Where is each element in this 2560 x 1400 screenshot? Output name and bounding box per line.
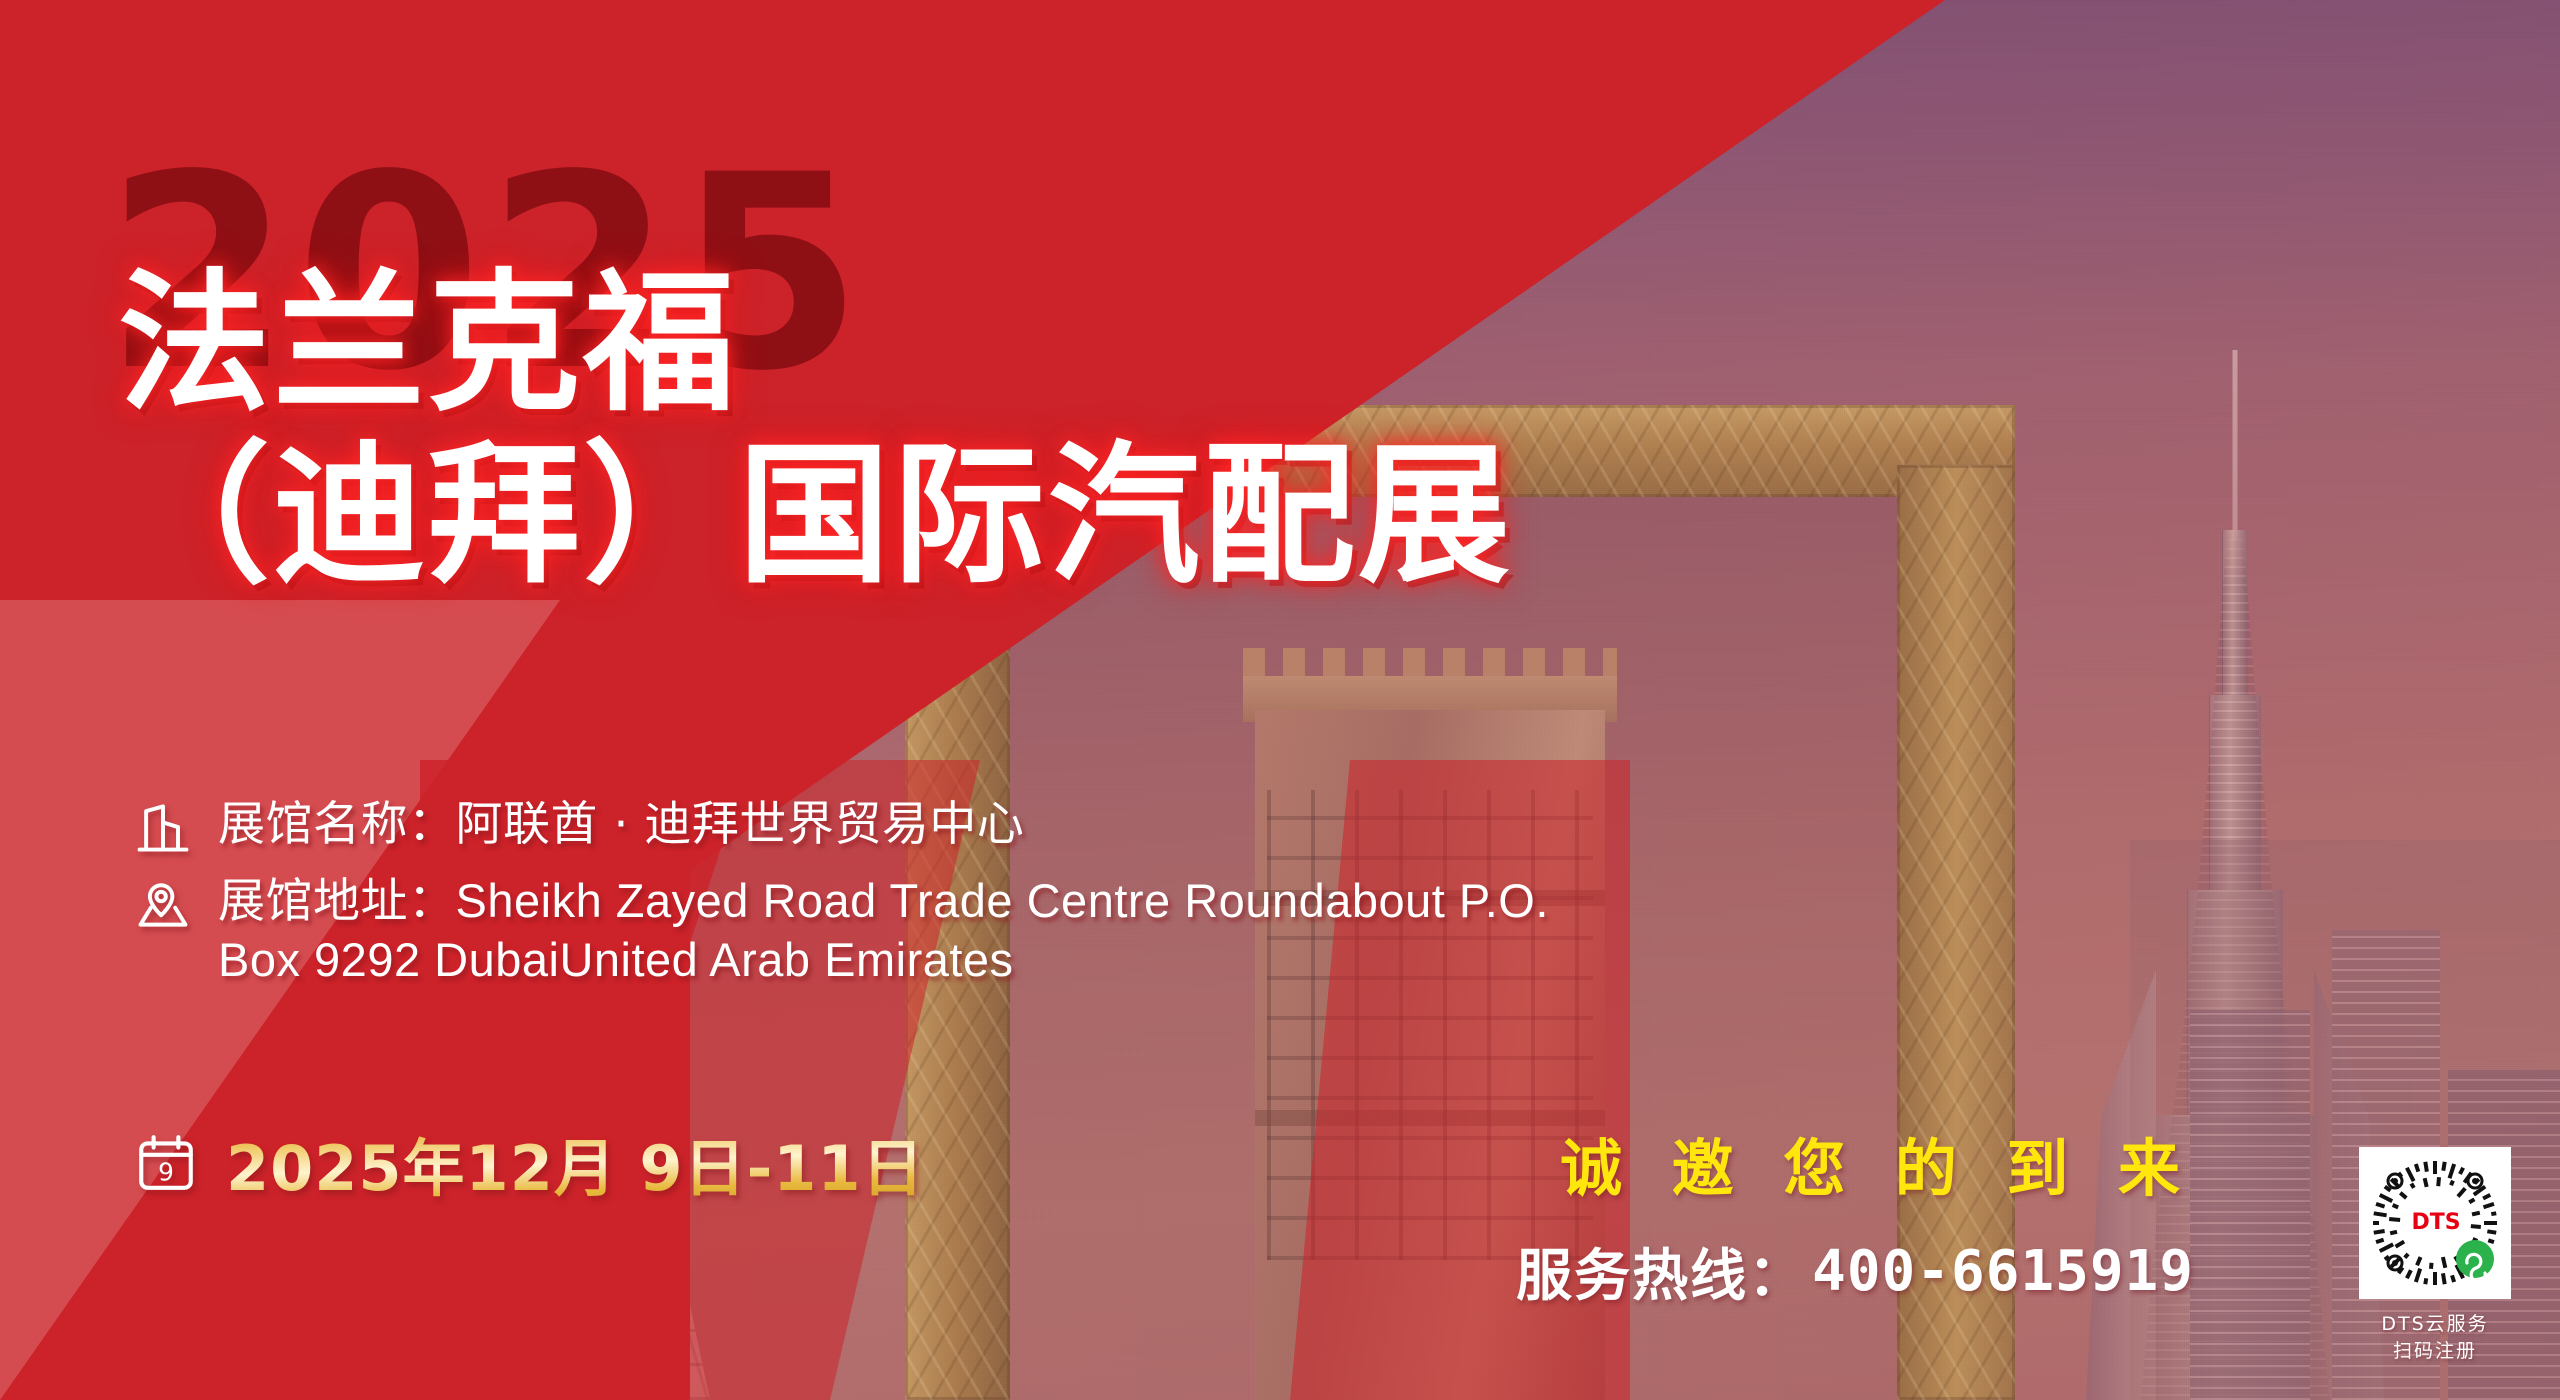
venue-address-line-2: Box 9292 DubaiUnited Arab Emirates (218, 930, 1549, 989)
title-line-1: 法兰克福 (118, 268, 1513, 420)
venue-name-text: 展馆名称：阿联酋 · 迪拜世界贸易中心 (218, 795, 1024, 854)
wechat-miniprogram-icon (2456, 1240, 2494, 1278)
exhibition-date-text: 2025年12月 9日-11日 (226, 1118, 925, 1208)
hotline-number: 400-6615919 (1812, 1239, 2194, 1304)
qr-caption-line-2: 扫码注册 (2381, 1338, 2488, 1366)
service-hotline: 服务热线： 400-6615919 (1516, 1231, 2194, 1312)
map-pin-icon (130, 871, 196, 937)
exhibition-poster: 2025 法兰克福 （迪拜）国际汽配展 展馆名称：阿联酋 · 迪拜世界贸易中心 (0, 0, 2560, 1400)
qr-caption: DTS云服务 扫码注册 (2381, 1311, 2488, 1366)
venue-address-row: 展馆地址：Sheikh Zayed Road Trade Centre Roun… (130, 871, 1549, 989)
venue-address-text-group: 展馆地址：Sheikh Zayed Road Trade Centre Roun… (218, 871, 1549, 989)
qr-caption-line-1: DTS云服务 (2381, 1311, 2488, 1339)
venue-address-line-1: 展馆地址：Sheikh Zayed Road Trade Centre Roun… (218, 871, 1549, 930)
calendar-day-number: 9 (158, 1158, 174, 1187)
hotline-label: 服务热线： (1516, 1231, 1806, 1312)
invitation-slogan: 诚 邀 您 的 到 来 (1560, 1118, 2194, 1208)
venue-info-block: 展馆名称：阿联酋 · 迪拜世界贸易中心 展馆地址：Sheikh Zayed Ro… (130, 795, 1549, 999)
poster-title: 法兰克福 （迪拜）国际汽配展 (118, 268, 1513, 592)
title-line-2: （迪拜）国际汽配展 (118, 440, 1513, 592)
qr-registration-block[interactable]: DTS DTS云服务 扫码注册 (2342, 1147, 2528, 1366)
qr-logo-text: DTS (2411, 1210, 2460, 1235)
poster-content: 2025 法兰克福 （迪拜）国际汽配展 展馆名称：阿联酋 · 迪拜世界贸易中心 (0, 0, 2560, 1400)
qr-code-image[interactable]: DTS (2359, 1147, 2511, 1299)
venue-building-icon (130, 795, 196, 861)
exhibition-date-row: 9 2025年12月 9日-11日 (130, 1118, 925, 1208)
calendar-icon: 9 (130, 1127, 202, 1199)
venue-name-row: 展馆名称：阿联酋 · 迪拜世界贸易中心 (130, 795, 1549, 861)
